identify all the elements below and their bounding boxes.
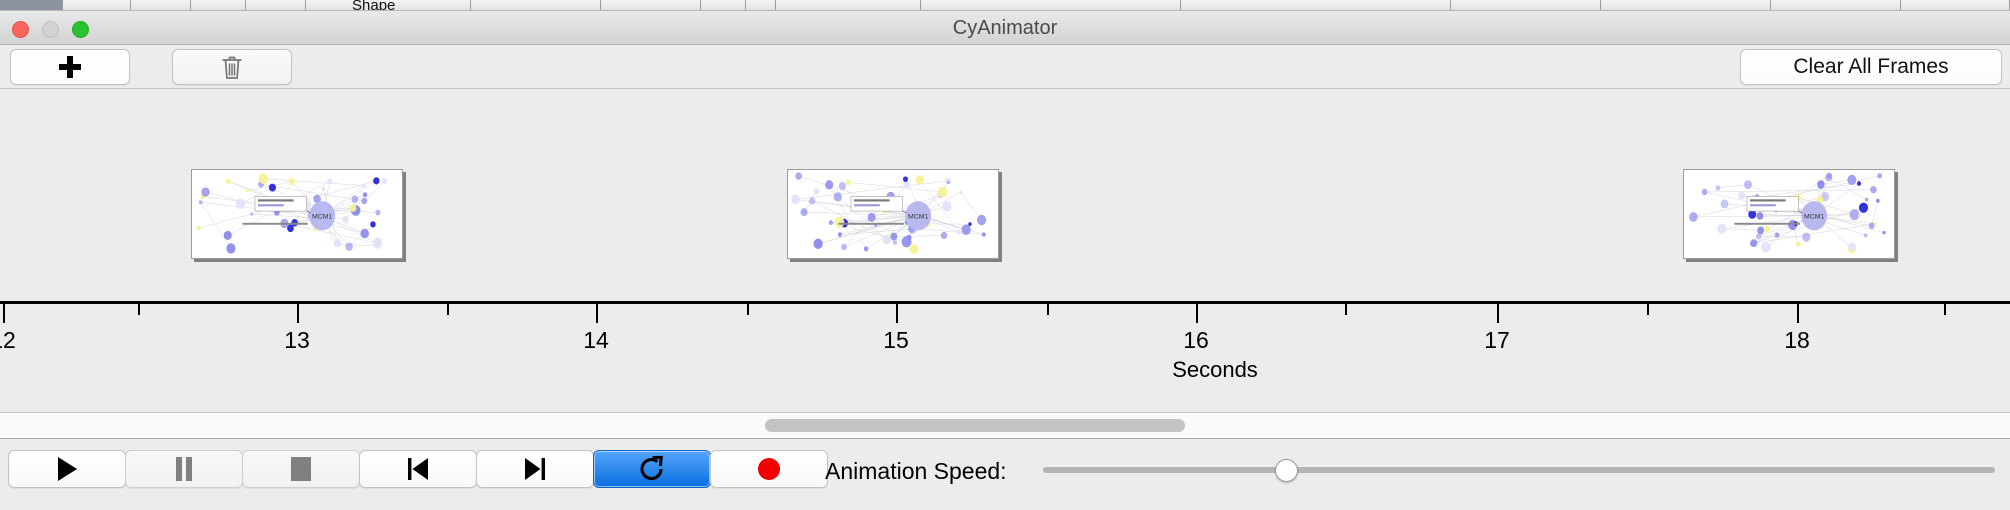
animation-speed-label: Animation Speed: [825,458,1007,485]
plus-icon [59,56,81,78]
background-window-divider [600,0,601,11]
axis-tick-label: 16 [1183,327,1209,354]
animation-speed-slider-thumb[interactable] [1275,459,1298,482]
scrollbar-thumb[interactable] [765,419,1185,432]
axis-tick-minor [1047,304,1049,315]
background-window-divider [1600,0,1601,11]
background-window-divider [130,0,131,11]
axis-tick-label: 13 [284,327,310,354]
axis-tick-major [896,304,898,323]
axis-tick-label: 17 [1484,327,1510,354]
background-window-divider [1450,0,1451,11]
delete-frame-button[interactable] [172,49,292,85]
timeline-frame[interactable]: MCM1 [191,169,403,259]
skip-back-icon [404,456,432,482]
skip-fwd-icon [521,456,549,482]
cyanimator-window: Shape CyAnimator Clear All Frames MCM1MC… [0,0,2010,510]
previous-button[interactable] [359,450,477,488]
axis-tick-label: 14 [583,327,609,354]
background-window-divider [920,0,921,11]
axis-tick-major [1797,304,1799,323]
timeline-panel[interactable]: MCM1MCM1MCM1 12131415161718 Seconds [0,89,2010,413]
add-frame-button[interactable] [10,49,130,85]
window-title: CyAnimator [0,11,2010,45]
stop-icon [291,457,311,481]
axis-title-label: Seconds [1172,357,1258,383]
axis-tick-label: 18 [1784,327,1810,354]
trash-icon [220,54,244,80]
background-window-divider [1180,0,1181,11]
background-window-text: Shape [352,0,395,11]
record-button[interactable] [710,450,828,488]
axis-tick-minor [447,304,449,315]
svg-text:MCM1: MCM1 [312,214,333,221]
background-window-divider [1900,0,1901,11]
axis-tick-minor [138,304,140,315]
axis-tick-major [3,304,5,323]
background-window-divider [305,0,306,11]
titlebar: CyAnimator [0,11,2010,45]
next-button[interactable] [476,450,594,488]
background-window-divider [190,0,191,11]
timeline-axis: 12131415161718 Seconds [0,301,2010,413]
axis-line [0,301,2010,304]
axis-tick-minor [1944,304,1946,315]
background-window-divider [700,0,701,11]
play-button[interactable] [8,450,126,488]
background-window-divider [1770,0,1771,11]
loop-icon [637,455,667,483]
axis-tick-major [596,304,598,323]
pause-icon [175,457,193,481]
axis-tick-minor [1345,304,1347,315]
axis-tick-minor [747,304,749,315]
clear-all-frames-button[interactable]: Clear All Frames [1740,49,2002,85]
axis-tick-label: 15 [883,327,909,354]
timeline-scrollbar[interactable] [0,413,2010,439]
svg-text:MCM1: MCM1 [908,214,929,221]
background-window-divider [245,0,246,11]
background-window-divider [775,0,776,11]
playback-toolbar: Animation Speed: [0,440,2010,510]
pause-button [125,450,243,488]
timeline-frame[interactable]: MCM1 [1683,169,1895,259]
axis-tick-label: 12 [0,327,16,354]
stop-button [242,450,360,488]
record-icon [758,458,780,480]
axis-tick-minor [1647,304,1649,315]
background-window-divider [470,0,471,11]
background-window-strip: Shape [0,0,2010,11]
animation-speed-slider[interactable] [1043,467,1995,473]
play-icon [58,457,77,481]
background-window-titlebar [0,0,62,11]
background-window-divider [745,0,746,11]
timeline-frame[interactable]: MCM1 [787,169,999,259]
loop-button[interactable] [593,450,711,488]
axis-tick-major [1497,304,1499,323]
svg-text:MCM1: MCM1 [1804,214,1825,221]
background-window-divider [62,0,63,11]
axis-tick-major [1196,304,1198,323]
axis-tick-major [297,304,299,323]
toolbar: Clear All Frames [0,45,2010,89]
